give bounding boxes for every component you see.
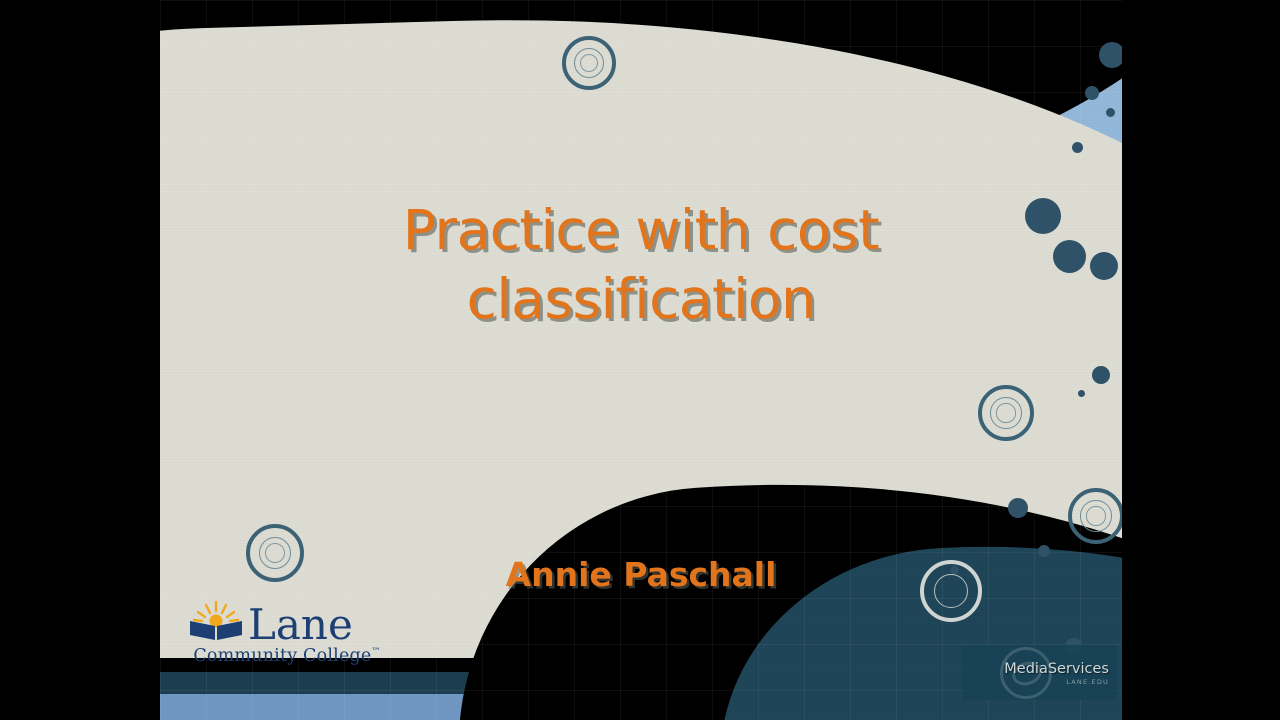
author-name: Annie Paschall [160,555,1122,594]
media-services-brand-label: MediaServices [962,661,1109,677]
dot-right-1 [1072,142,1083,153]
lane-community-college-logo: Lane Community College™ [172,600,402,666]
slide-author-block: Annie Paschall [160,555,1122,594]
ring-top-center [562,36,616,90]
presentation-slide: Practice with cost classification Annie … [160,0,1122,720]
slide-title-line-1: Practice with cost [160,196,1122,265]
slide-title-block: Practice with cost classification [160,196,1122,335]
pillarbox-right-bar [1122,0,1280,720]
logo-top-row: Lane [172,600,402,645]
dot-right-small-1 [1078,390,1085,397]
logo-subtitle-row: Community College™ [172,646,402,666]
media-services-watermark-badge: MediaServices LANE.EDU [962,645,1117,700]
dot-top-right-1 [1099,42,1122,68]
dot-top-right-2 [1085,86,1099,100]
ring-lower-right [1068,488,1122,544]
logo-wordmark: Lane [248,606,353,645]
ring-inner-stroke [996,403,1015,422]
dot-right-3 [1092,366,1110,384]
dot-top-right-3 [1106,108,1115,117]
logo-subtitle: Community College [193,646,371,666]
pillarbox-left-bar [0,0,160,720]
open-book-sunburst-icon [188,600,244,645]
logo-trademark: ™ [371,647,380,657]
dot-lower-right-1 [1008,498,1028,518]
video-player-viewport: Practice with cost classification Annie … [0,0,1280,720]
media-services-tagline: LANE.EDU [962,678,1109,686]
ring-inner-stroke [1086,506,1105,525]
ring-mid-right [978,385,1034,441]
slide-title-line-2: classification [160,265,1122,334]
